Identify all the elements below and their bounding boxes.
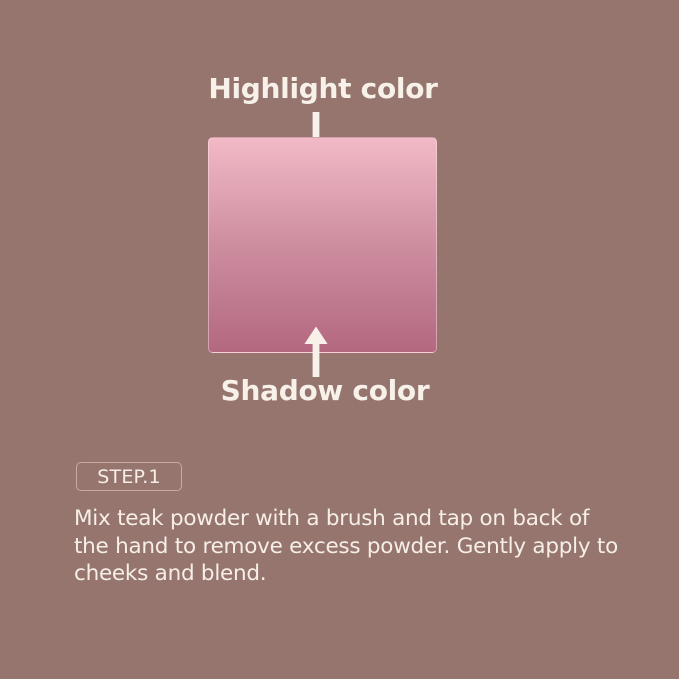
step-badge: STEP.1 [76, 462, 182, 491]
arrow-up-icon [303, 325, 329, 377]
shadow-color-label: Shadow color [0, 374, 650, 407]
product-instruction-card: Highlight color Shadow color STEP.1 Mix … [0, 0, 679, 679]
highlight-color-label: Highlight color [0, 72, 646, 105]
color-gradient-swatch [208, 137, 437, 353]
step-instructions-text: Mix teak powder with a brush and tap on … [74, 505, 619, 588]
